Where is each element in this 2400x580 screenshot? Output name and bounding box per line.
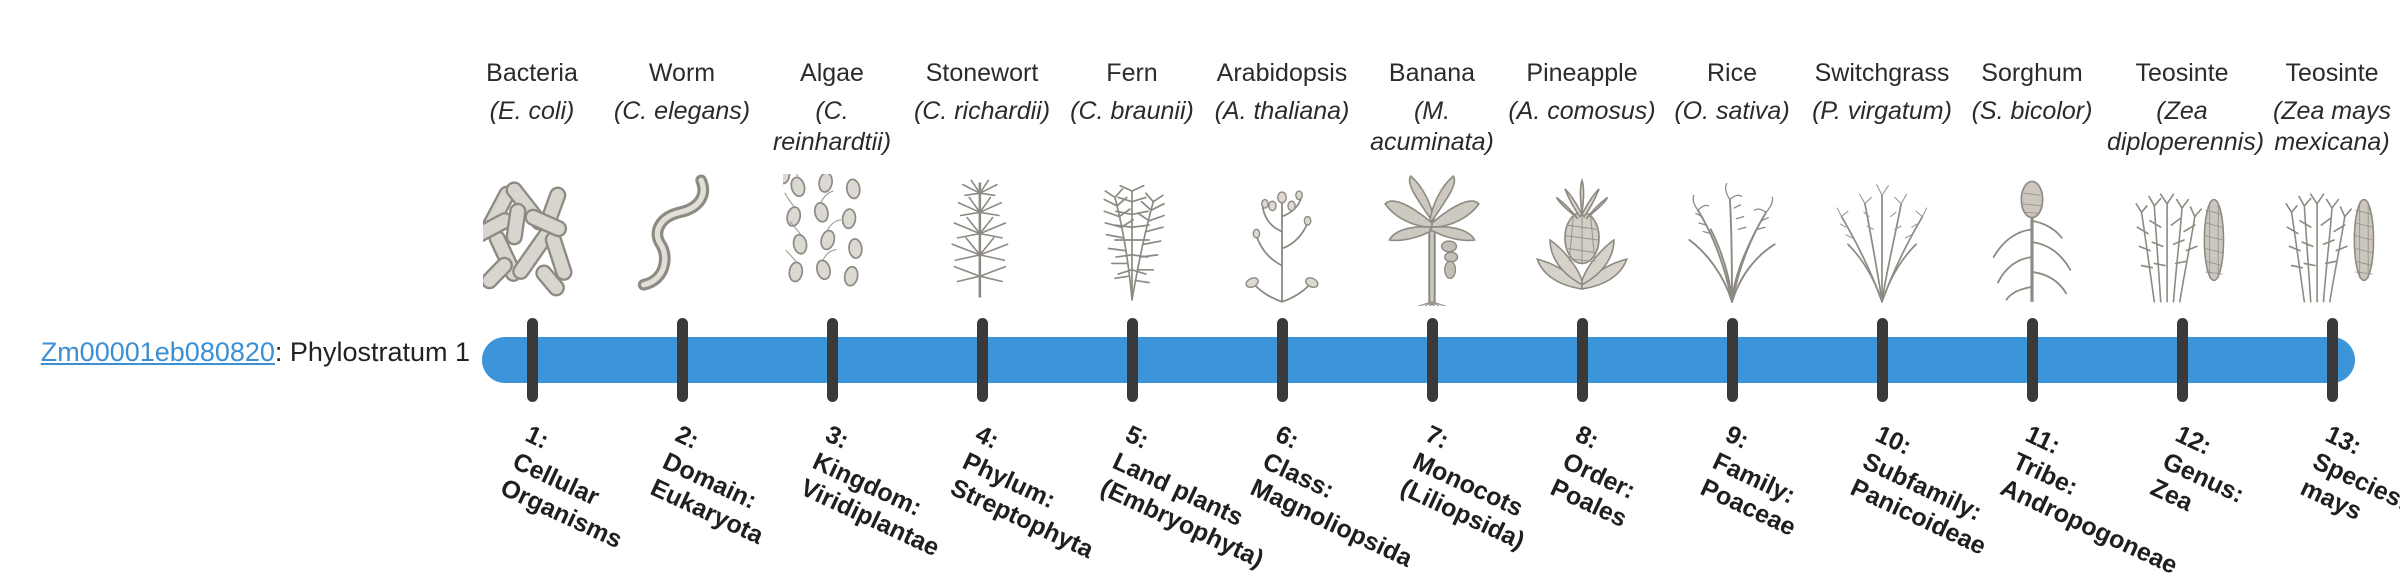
species-common-name: Teosinte	[2257, 58, 2400, 89]
species-scientific-name: (C. richardii)	[907, 96, 1057, 127]
stonewort-illustration	[907, 166, 1057, 306]
gene-id-link[interactable]: Zm00001eb080820	[41, 337, 275, 367]
species-common-name: Pineapple	[1507, 58, 1657, 89]
sorghum-illustration	[1957, 166, 2107, 306]
species-column: Stonewort(C. richardii)4:Phylum:Streptop…	[907, 0, 1057, 580]
stratum-tick[interactable]	[1427, 318, 1438, 402]
species-common-name: Banana	[1357, 58, 1507, 89]
stratum-tick[interactable]	[2027, 318, 2038, 402]
species-scientific-name: (A. thaliana)	[1207, 96, 1357, 127]
species-common-name: Switchgrass	[1807, 58, 1957, 89]
species-common-name: Algae	[757, 58, 907, 89]
species-common-name: Worm	[607, 58, 757, 89]
stratum-label: 13:Species: Zeamays	[2296, 420, 2400, 579]
species-column: Sorghum(S. bicolor)11:Tribe:Andropogonea…	[1957, 0, 2107, 580]
stratum-tick[interactable]	[827, 318, 838, 402]
species-scientific-name: (C. elegans)	[607, 96, 757, 127]
species-common-name: Sorghum	[1957, 58, 2107, 89]
species-scientific-name: (E. coli)	[457, 96, 607, 127]
species-scientific-name: (A. comosus)	[1507, 96, 1657, 127]
species-scientific-name: (M. acuminata)	[1357, 96, 1507, 159]
species-column: Banana(M. acuminata)7:Monocots(Liliopsid…	[1357, 0, 1507, 580]
bacteria-illustration	[457, 166, 607, 306]
stratum-tick[interactable]	[1877, 318, 1888, 402]
gene-label-separator: :	[275, 337, 290, 367]
phylostratigraphy-figure: Zm00001eb080820: Phylostratum 1 Bacteria…	[0, 0, 2400, 580]
stratum-tick[interactable]	[527, 318, 538, 402]
stratum-tick[interactable]	[2177, 318, 2188, 402]
species-column: Switchgrass(P. virgatum)10:Subfamily:Pan…	[1807, 0, 1957, 580]
arabidopsis-illustration	[1207, 166, 1357, 306]
gene-phylostratum-label: Zm00001eb080820: Phylostratum 1	[40, 336, 470, 368]
species-column: Rice(O. sativa)9:Family:Poaceae	[1657, 0, 1807, 580]
species-common-name: Stonewort	[907, 58, 1057, 89]
species-common-name: Arabidopsis	[1207, 58, 1357, 89]
species-scientific-name: (Zea diploperennis)	[2107, 96, 2257, 159]
species-column: Fern(C. braunii)5:Land plants(Embryophyt…	[1057, 0, 1207, 580]
stratum-tick[interactable]	[1277, 318, 1288, 402]
teosinte-mexicana-illustration	[2257, 166, 2400, 306]
species-scientific-name: (C. reinhardtii)	[757, 96, 907, 159]
fern-illustration	[1057, 166, 1207, 306]
rice-illustration	[1657, 166, 1807, 306]
species-column: Arabidopsis(A. thaliana)6:Class:Magnolio…	[1207, 0, 1357, 580]
stratum-tick[interactable]	[677, 318, 688, 402]
switchgrass-illustration	[1807, 166, 1957, 306]
stratum-tick[interactable]	[2327, 318, 2338, 402]
species-column: Pineapple(A. comosus)8:Order:Poales	[1507, 0, 1657, 580]
species-common-name: Fern	[1057, 58, 1207, 89]
species-column: Algae(C. reinhardtii)3:Kingdom:Viridipla…	[757, 0, 907, 580]
species-column: Teosinte(Zea diploperennis)12:Genus:Zea	[2107, 0, 2257, 580]
species-common-name: Rice	[1657, 58, 1807, 89]
teosinte-diploperennis-illustration	[2107, 166, 2257, 306]
species-common-name: Teosinte	[2107, 58, 2257, 89]
species-scientific-name: (Zea mays mexicana)	[2257, 96, 2400, 159]
species-scientific-name: (C. braunii)	[1057, 96, 1207, 127]
stratum-tick[interactable]	[1577, 318, 1588, 402]
worm-illustration	[607, 166, 757, 306]
species-column: Worm(C. elegans)2:Domain:Eukaryota	[607, 0, 757, 580]
algae-illustration	[757, 166, 907, 306]
stratum-tick[interactable]	[1127, 318, 1138, 402]
phylostratum-value: Phylostratum 1	[290, 337, 470, 367]
stratum-tick[interactable]	[977, 318, 988, 402]
species-column: Bacteria(E. coli)1:CellularOrganisms	[457, 0, 607, 580]
banana-illustration	[1357, 166, 1507, 306]
species-scientific-name: (S. bicolor)	[1957, 96, 2107, 127]
species-common-name: Bacteria	[457, 58, 607, 89]
species-scientific-name: (P. virgatum)	[1807, 96, 1957, 127]
stratum-tick[interactable]	[1727, 318, 1738, 402]
species-column: Teosinte(Zea mays mexicana)13:Species: Z…	[2257, 0, 2400, 580]
pineapple-illustration	[1507, 166, 1657, 306]
species-scientific-name: (O. sativa)	[1657, 96, 1807, 127]
